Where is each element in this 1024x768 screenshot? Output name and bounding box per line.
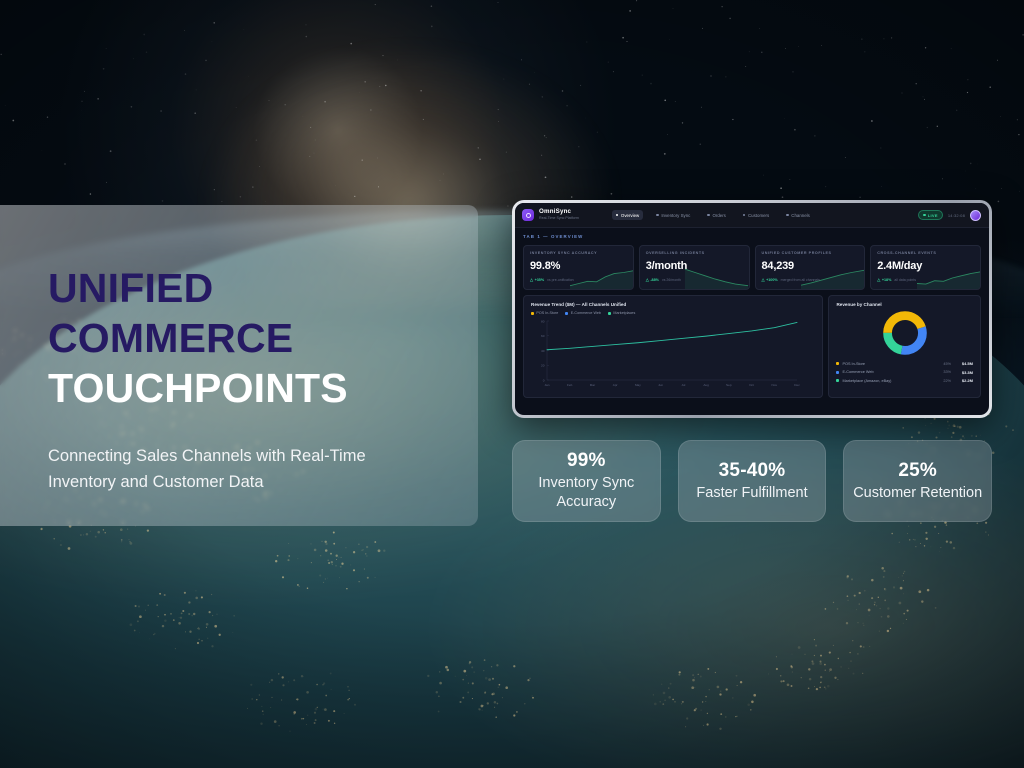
kpi-footer: △ +18% all data points — [877, 278, 974, 282]
legend-item-marketplaces: Marketplaces — [608, 311, 635, 315]
svg-text:Aug: Aug — [703, 383, 709, 387]
legend-swatch — [836, 379, 839, 382]
title-line-3: TOUCHPOINTS — [48, 363, 438, 413]
kpi-delta: △ +100% — [762, 278, 778, 282]
kpi-delta: △ +35% — [530, 278, 544, 282]
chart-legend: POS In-Store E-Commerce Web Marketplaces — [531, 311, 815, 315]
svg-text:Nov: Nov — [772, 383, 778, 387]
tab-section-label: TAB 1 — OVERVIEW — [523, 234, 981, 239]
kpi-delta-value: +18% — [882, 278, 892, 282]
kpi-delta-value: +100% — [766, 278, 778, 282]
stat-label: Inventory Sync Accuracy — [515, 474, 658, 512]
nav-item-inventory-sync[interactable]: Inventory Sync — [652, 210, 694, 220]
legend-label: E-Commerce Web — [842, 370, 935, 374]
svg-text:40: 40 — [541, 349, 545, 353]
trend-up-icon: △ — [530, 278, 533, 282]
legend-swatch — [565, 312, 568, 315]
kpi-card-inventory-sync-accuracy: INVENTORY SYNC ACCURACY 99.8% △ +35% vs … — [523, 245, 634, 290]
list-item: E-Commerce Web 33% $3.3M — [836, 370, 973, 375]
nav-label: Channels — [791, 213, 810, 218]
kpi-card-overselling-incidents: OVERSELLING INCIDENTS 3/month △ -88% vs … — [639, 245, 750, 290]
legend-label: Marketplaces — [613, 311, 635, 315]
trend-up-icon: △ — [877, 278, 880, 282]
kpi-delta: △ -88% — [646, 278, 659, 282]
title-line-2: COMMERCE — [48, 313, 438, 363]
live-label: LIVE — [928, 213, 938, 218]
legend-label: E-Commerce Web — [571, 311, 601, 315]
share-icon — [786, 214, 789, 217]
stat-chip-row: 99% Inventory Sync Accuracy 35-40% Faste… — [512, 440, 992, 522]
panel-title: Revenue by Channel — [836, 302, 973, 307]
legend-value: $3.3M — [951, 370, 973, 375]
stat-chip-inventory-sync-accuracy: 99% Inventory Sync Accuracy — [512, 440, 661, 522]
stat-value: 99% — [567, 450, 606, 472]
kpi-delta: △ +18% — [877, 278, 891, 282]
avatar[interactable] — [970, 210, 981, 221]
nav-item-channels[interactable]: Channels — [782, 210, 814, 220]
kpi-note: merged from all channels — [781, 278, 820, 282]
box-icon — [707, 214, 710, 217]
dashboard-nav: Overview Inventory Sync Orders Customers… — [612, 210, 814, 220]
dashboard-body: TAB 1 — OVERVIEW INVENTORY SYNC ACCURACY… — [515, 228, 989, 406]
list-item: POS In-Store 45% $4.5M — [836, 361, 973, 366]
donut-legend: POS In-Store 45% $4.5M E-Commerce Web 33… — [836, 361, 973, 383]
svg-text:Jun: Jun — [658, 383, 663, 387]
panel-row: Revenue Trend ($M) — All Channels Unifie… — [523, 295, 981, 398]
stat-value: 25% — [898, 460, 937, 482]
stat-chip-faster-fulfillment: 35-40% Faster Fulfillment — [678, 440, 827, 522]
status-badge: LIVE — [918, 210, 943, 220]
kpi-delta-value: -88% — [650, 278, 659, 282]
svg-text:0: 0 — [543, 378, 545, 382]
legend-percent: 45% — [935, 362, 951, 366]
nav-item-customers[interactable]: Customers — [739, 210, 773, 220]
brand-block: OmniSync Real-Time Sync Platform — [539, 209, 579, 220]
dashboard-header: OmniSync Real-Time Sync Platform Overvie… — [515, 203, 989, 228]
legend-swatch — [531, 312, 534, 315]
brand-name: OmniSync — [539, 209, 579, 215]
nav-label: Inventory Sync — [661, 213, 690, 218]
kpi-label: CROSS-CHANNEL EVENTS — [877, 251, 974, 255]
stat-label: Customer Retention — [853, 484, 982, 503]
kpi-note: vs pre-unification — [547, 278, 573, 282]
revenue-trend-panel: Revenue Trend ($M) — All Channels Unifie… — [523, 295, 823, 398]
brand-tagline: Real-Time Sync Platform — [539, 217, 579, 221]
kpi-label: OVERSELLING INCIDENTS — [646, 251, 743, 255]
nav-label: Orders — [712, 213, 725, 218]
svg-text:60: 60 — [541, 334, 545, 338]
stat-label: Faster Fulfillment — [696, 484, 807, 503]
svg-text:Sep: Sep — [726, 383, 732, 387]
svg-text:Oct: Oct — [749, 383, 754, 387]
trend-up-icon: △ — [762, 278, 765, 282]
kpi-delta-value: +35% — [535, 278, 545, 282]
panel-title: Revenue Trend ($M) — All Channels Unifie… — [531, 302, 815, 307]
dashboard-screen: OmniSync Real-Time Sync Platform Overvie… — [515, 203, 989, 415]
sync-icon — [656, 214, 659, 217]
nav-item-orders[interactable]: Orders — [703, 210, 730, 220]
kpi-footer: △ +35% vs pre-unification — [530, 278, 627, 282]
kpi-note: vs 26/month — [662, 278, 681, 282]
legend-percent: 33% — [935, 370, 951, 374]
legend-swatch — [836, 371, 839, 374]
legend-percent: 22% — [935, 379, 951, 383]
svg-text:Feb: Feb — [567, 383, 573, 387]
kpi-footer: △ +100% merged from all channels — [762, 278, 859, 282]
legend-label: POS In-Store — [842, 362, 935, 366]
svg-text:Jul: Jul — [681, 383, 685, 387]
svg-text:Mar: Mar — [590, 383, 595, 387]
dashboard-frame: OmniSync Real-Time Sync Platform Overvie… — [512, 200, 992, 418]
clock-label: 14:32:08 — [948, 213, 965, 218]
kpi-note: all data points — [894, 278, 916, 282]
nav-item-overview[interactable]: Overview — [612, 210, 643, 220]
legend-item-pos-in-store: POS In-Store — [531, 311, 558, 315]
legend-swatch — [608, 312, 611, 315]
svg-text:80: 80 — [541, 319, 545, 323]
stat-chip-customer-retention: 25% Customer Retention — [843, 440, 992, 522]
user-icon — [743, 214, 746, 217]
omnisync-logo-icon — [522, 209, 534, 221]
nav-label: Overview — [621, 213, 639, 218]
legend-value: $4.5M — [951, 361, 973, 366]
kpi-card-unified-customer-profiles: UNIFIED CUSTOMER PROFILES 84,239 △ +100%… — [755, 245, 866, 290]
legend-item-ecommerce-web: E-Commerce Web — [565, 311, 601, 315]
page-subtitle: Connecting Sales Channels with Real-Time… — [48, 443, 438, 495]
list-item: Marketplace (Amazon, eBay) 22% $2.2M — [836, 378, 973, 383]
donut-chart-wrap — [836, 310, 973, 356]
legend-swatch — [836, 362, 839, 365]
legend-label: POS In-Store — [536, 311, 558, 315]
legend-value: $2.2M — [951, 378, 973, 383]
legend-label: Marketplace (Amazon, eBay) — [842, 379, 935, 383]
live-dot-icon — [923, 214, 925, 216]
svg-text:Apr: Apr — [613, 383, 618, 387]
donut-chart — [882, 310, 928, 356]
grid-icon — [616, 214, 619, 217]
kpi-row: INVENTORY SYNC ACCURACY 99.8% △ +35% vs … — [523, 245, 981, 290]
svg-text:20: 20 — [541, 364, 545, 368]
kpi-label: UNIFIED CUSTOMER PROFILES — [762, 251, 859, 255]
page-title: UNIFIED COMMERCE TOUCHPOINTS — [48, 263, 438, 413]
header-right-cluster: LIVE 14:32:08 — [918, 210, 981, 221]
nav-label: Customers — [748, 213, 769, 218]
title-line-1: UNIFIED — [48, 263, 438, 313]
kpi-footer: △ -88% vs 26/month — [646, 278, 743, 282]
svg-text:Dec: Dec — [794, 383, 800, 387]
line-chart: 020406080JanFebMarAprMayJunJulAugSepOctN… — [531, 318, 801, 391]
svg-text:May: May — [635, 383, 641, 387]
kpi-label: INVENTORY SYNC ACCURACY — [530, 251, 627, 255]
hero-panel: UNIFIED COMMERCE TOUCHPOINTS Connecting … — [0, 205, 478, 526]
svg-text:Jan: Jan — [545, 383, 550, 387]
stat-value: 35-40% — [719, 460, 786, 482]
kpi-card-cross-channel-events: CROSS-CHANNEL EVENTS 2.4M/day △ +18% all… — [870, 245, 981, 290]
trend-down-icon: △ — [646, 278, 649, 282]
revenue-by-channel-panel: Revenue by Channel POS In-Store 45% $4.5… — [828, 295, 981, 398]
